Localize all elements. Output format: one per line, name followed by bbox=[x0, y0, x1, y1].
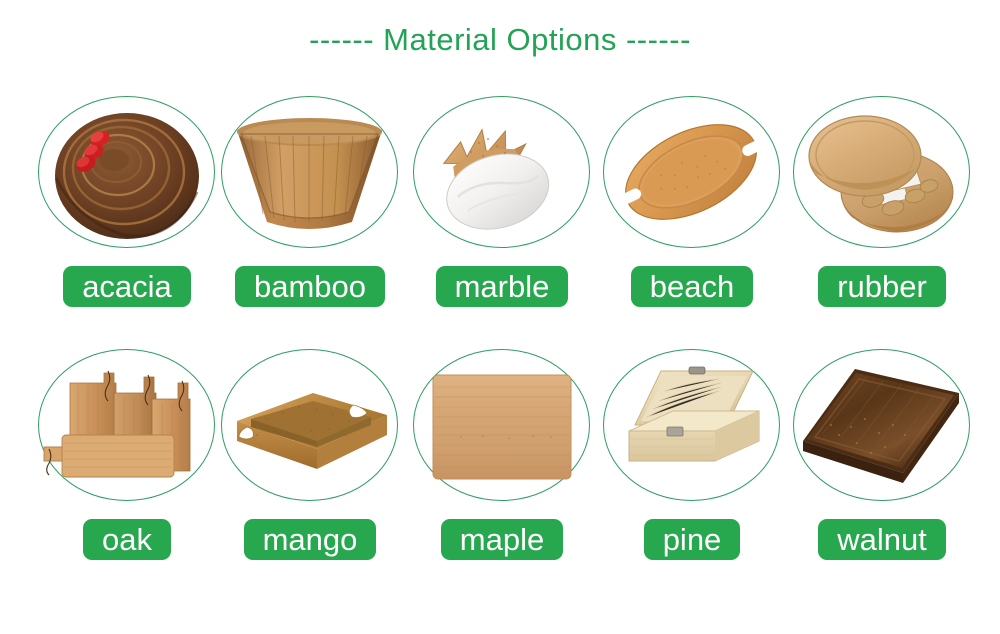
material-label-wrap: acacia bbox=[27, 266, 227, 307]
material-label-wrap: rubber bbox=[782, 266, 982, 307]
material-grid: acacia bbox=[0, 86, 1000, 592]
page-title: ------ Material Options ------ bbox=[0, 22, 1000, 58]
material-grid-row: acacia bbox=[0, 86, 1000, 339]
material-card-marble[interactable]: marble bbox=[402, 86, 602, 339]
material-label-walnut[interactable]: walnut bbox=[818, 519, 946, 560]
material-card-acacia[interactable]: acacia bbox=[27, 86, 227, 339]
material-thumbnail-bamboo[interactable] bbox=[210, 86, 410, 264]
material-label-wrap: oak bbox=[27, 519, 227, 560]
stacked-wooden-plates-with-tomatoes-photo bbox=[38, 96, 215, 248]
material-thumbnail-maple[interactable] bbox=[402, 339, 602, 517]
material-card-rubber[interactable]: rubber bbox=[782, 86, 982, 339]
material-label-oak[interactable]: oak bbox=[83, 519, 171, 560]
material-label-wrap: beach bbox=[592, 266, 792, 307]
material-label-acacia[interactable]: acacia bbox=[63, 266, 191, 307]
open-wooden-box-photo bbox=[603, 349, 780, 501]
material-label-wrap: marble bbox=[402, 266, 602, 307]
material-thumbnail-oak[interactable] bbox=[27, 339, 227, 517]
page-title-text: ------ Material Options ------ bbox=[309, 22, 691, 58]
paddle-cutting-boards-photo bbox=[38, 349, 215, 501]
material-options-page: ------ Material Options ------ bbox=[0, 0, 1000, 634]
material-card-mango[interactable]: mango bbox=[210, 339, 410, 592]
pineapple-marble-board-photo bbox=[413, 96, 590, 248]
material-label-beach[interactable]: beach bbox=[631, 266, 753, 307]
material-card-beach[interactable]: beach bbox=[592, 86, 792, 339]
material-label-wrap: bamboo bbox=[210, 266, 410, 307]
material-label-pine[interactable]: pine bbox=[644, 519, 741, 560]
material-thumbnail-pine[interactable] bbox=[592, 339, 792, 517]
rectangular-serving-tray-photo bbox=[221, 349, 398, 501]
material-card-maple[interactable]: maple bbox=[402, 339, 602, 592]
material-label-wrap: walnut bbox=[782, 519, 982, 560]
material-label-bamboo[interactable]: bamboo bbox=[235, 266, 385, 307]
material-label-mango[interactable]: mango bbox=[244, 519, 377, 560]
material-label-marble[interactable]: marble bbox=[436, 266, 569, 307]
material-thumbnail-beach[interactable] bbox=[592, 86, 792, 264]
plain-cutting-board-photo bbox=[413, 349, 590, 501]
material-thumbnail-mango[interactable] bbox=[210, 339, 410, 517]
material-card-walnut[interactable]: walnut bbox=[782, 339, 982, 592]
material-thumbnail-rubber[interactable] bbox=[782, 86, 982, 264]
material-grid-row: oak bbox=[0, 339, 1000, 592]
material-card-oak[interactable]: oak bbox=[27, 339, 227, 592]
bamboo-bowl-photo bbox=[221, 96, 398, 248]
material-card-bamboo[interactable]: bamboo bbox=[210, 86, 410, 339]
material-card-pine[interactable]: pine bbox=[592, 339, 792, 592]
material-thumbnail-marble[interactable] bbox=[402, 86, 602, 264]
material-label-wrap: pine bbox=[592, 519, 792, 560]
oval-handled-tray-photo bbox=[603, 96, 780, 248]
material-thumbnail-walnut[interactable] bbox=[782, 339, 982, 517]
material-label-wrap: maple bbox=[402, 519, 602, 560]
material-label-maple[interactable]: maple bbox=[441, 519, 563, 560]
round-cheese-board-set-photo bbox=[793, 96, 970, 248]
material-label-wrap: mango bbox=[210, 519, 410, 560]
material-label-rubber[interactable]: rubber bbox=[818, 266, 946, 307]
dark-walnut-board-photo bbox=[793, 349, 970, 501]
material-thumbnail-acacia[interactable] bbox=[27, 86, 227, 264]
